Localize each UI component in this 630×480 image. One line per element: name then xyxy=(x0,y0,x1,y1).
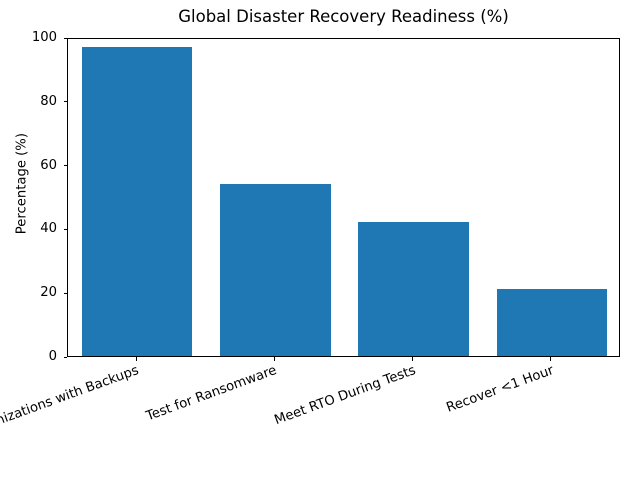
chart-title: Global Disaster Recovery Readiness (%) xyxy=(67,9,620,26)
x-tick-label: Meet RTO During Tests xyxy=(131,364,417,479)
y-tick-label: 40 xyxy=(17,222,57,235)
bar xyxy=(358,222,469,356)
x-tick-mark xyxy=(550,357,551,361)
y-tick-label: 60 xyxy=(17,159,57,172)
plot-area xyxy=(67,38,620,357)
x-tick-mark xyxy=(274,357,275,361)
y-tick-label: 100 xyxy=(17,31,57,44)
x-tick-label: Test for Ransomware xyxy=(0,364,279,479)
x-tick-mark xyxy=(136,357,137,361)
y-tick-label: 0 xyxy=(17,350,57,363)
chart-figure: Global Disaster Recovery Readiness (%) P… xyxy=(0,0,630,470)
x-tick-label: Recover <1 Hour xyxy=(269,364,555,479)
x-tick-mark xyxy=(412,357,413,361)
bars-layer xyxy=(68,39,619,356)
bar xyxy=(82,47,193,356)
y-tick-label: 20 xyxy=(17,286,57,299)
y-tick-label: 80 xyxy=(17,95,57,108)
bar xyxy=(497,289,608,356)
bar xyxy=(220,184,331,356)
